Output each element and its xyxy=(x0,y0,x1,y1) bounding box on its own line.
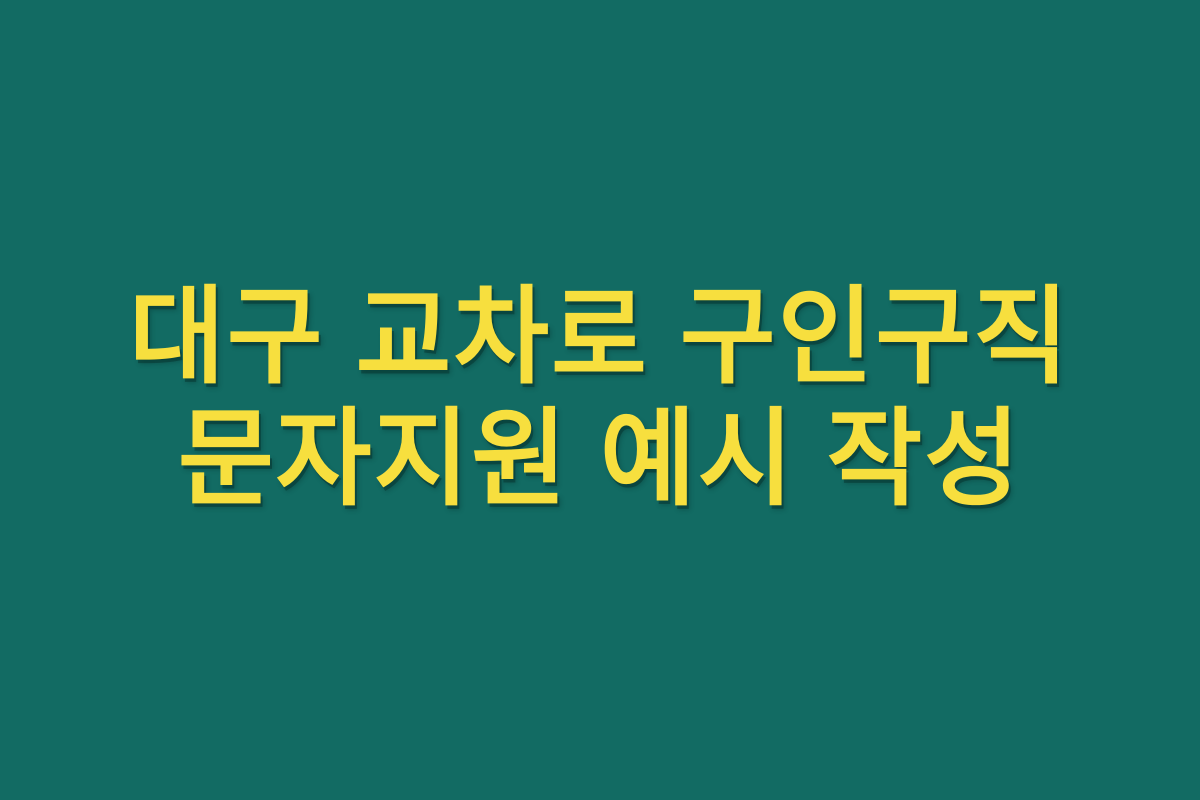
thumbnail-canvas: 대구 교차로 구인구직 문자지원 예시 작성 xyxy=(0,0,1200,800)
title-block: 대구 교차로 구인구직 문자지원 예시 작성 xyxy=(0,283,1200,515)
title-line-1: 대구 교차로 구인구직 xyxy=(129,282,1071,394)
title-line-2: 문자지원 예시 작성 xyxy=(178,404,1022,516)
